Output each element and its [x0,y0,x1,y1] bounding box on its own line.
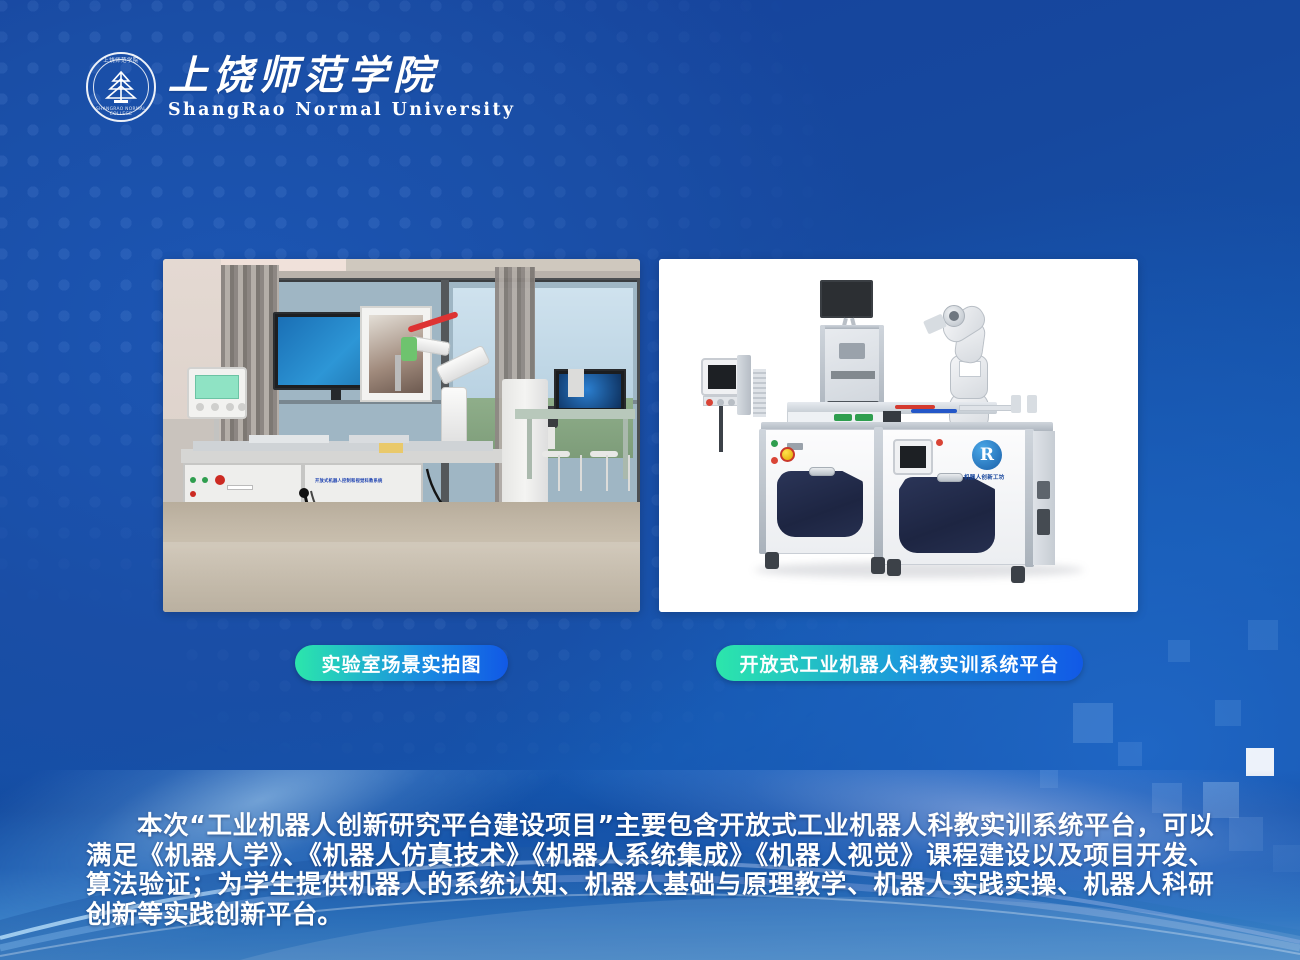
emblem-pagoda-icon [101,67,141,107]
decor-square [1168,640,1190,662]
cabinet-touch-panel [893,439,933,475]
cabinet-door-right [899,477,995,553]
decor-square [1248,620,1278,650]
overhead-monitor [820,280,873,318]
project-description-text: 本次“工业机器人创新研究平台建设项目”主要包含开放式工业机器人科教实训系统平台，… [86,812,1214,930]
decor-square [1215,700,1241,726]
emblem-arc-bottom-text: SHANGRAO NORMAL COLLEGE [86,107,156,117]
laboratory-photo: 开放式机器人控制和视觉科教系统 [163,259,640,612]
brand-logo-icon [972,440,1002,470]
university-logo: 上饶师范学院 SHANGRAO NORMAL COLLEGE 上饶师范学院 Sh… [86,52,516,122]
training-platform-render: 机器人创新工坊 [659,259,1138,612]
brand-logo-text: 机器人创新工坊 [964,473,1005,481]
logo-chinese-name: 上饶师范学院 [168,55,516,97]
platform-render-scene: 机器人创新工坊 [659,259,1138,612]
decor-square [1073,703,1113,743]
project-description: 本次“工业机器人创新研究平台建设项目”主要包含开放式工业机器人科教实训系统平台，… [86,812,1214,930]
emblem-arc-top-text: 上饶师范学院 [86,56,156,64]
lab-scene: 开放式机器人控制和视觉科教系统 [163,259,640,612]
caption-left-photo[interactable]: 实验室场景实拍图 [295,645,508,681]
logo-english-name: ShangRao Normal University [168,100,516,120]
cabinet-door-left [777,471,863,537]
decor-square [1118,742,1142,766]
caption-right-photo[interactable]: 开放式工业机器人科教实训系统平台 [716,645,1083,681]
university-emblem-icon: 上饶师范学院 SHANGRAO NORMAL COLLEGE [86,52,156,122]
